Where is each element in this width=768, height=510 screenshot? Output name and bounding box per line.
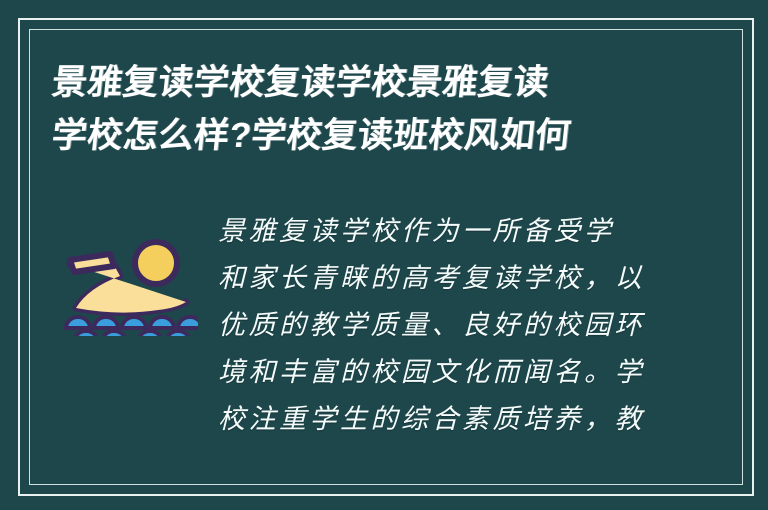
body-line-2: 和家长青睐的高考复读学校，以 [218, 255, 658, 302]
poster-canvas: 景雅复读学校复读学校景雅复读 学校怎么样?学校复读班校风如何 [0, 0, 768, 510]
body-line-4: 境和丰富的校园文化而闻名。学 [218, 349, 658, 396]
body-line-5: 校注重学生的综合素质培养，教 [218, 396, 658, 443]
body-line-3: 优质的教学质量、良好的校园环 [218, 302, 658, 349]
title-line-1: 景雅复读学校复读学校景雅复读 [49, 56, 715, 109]
swimmer-icon [58, 232, 198, 336]
body-line-1: 景雅复读学校作为一所备受学 [218, 208, 658, 255]
body-paragraph: 景雅复读学校作为一所备受学 和家长青睐的高考复读学校，以 优质的教学质量、良好的… [218, 208, 658, 443]
title-line-2: 学校怎么样?学校复读班校风如何 [49, 109, 715, 162]
page-title: 景雅复读学校复读学校景雅复读 学校怎么样?学校复读班校风如何 [52, 56, 712, 162]
